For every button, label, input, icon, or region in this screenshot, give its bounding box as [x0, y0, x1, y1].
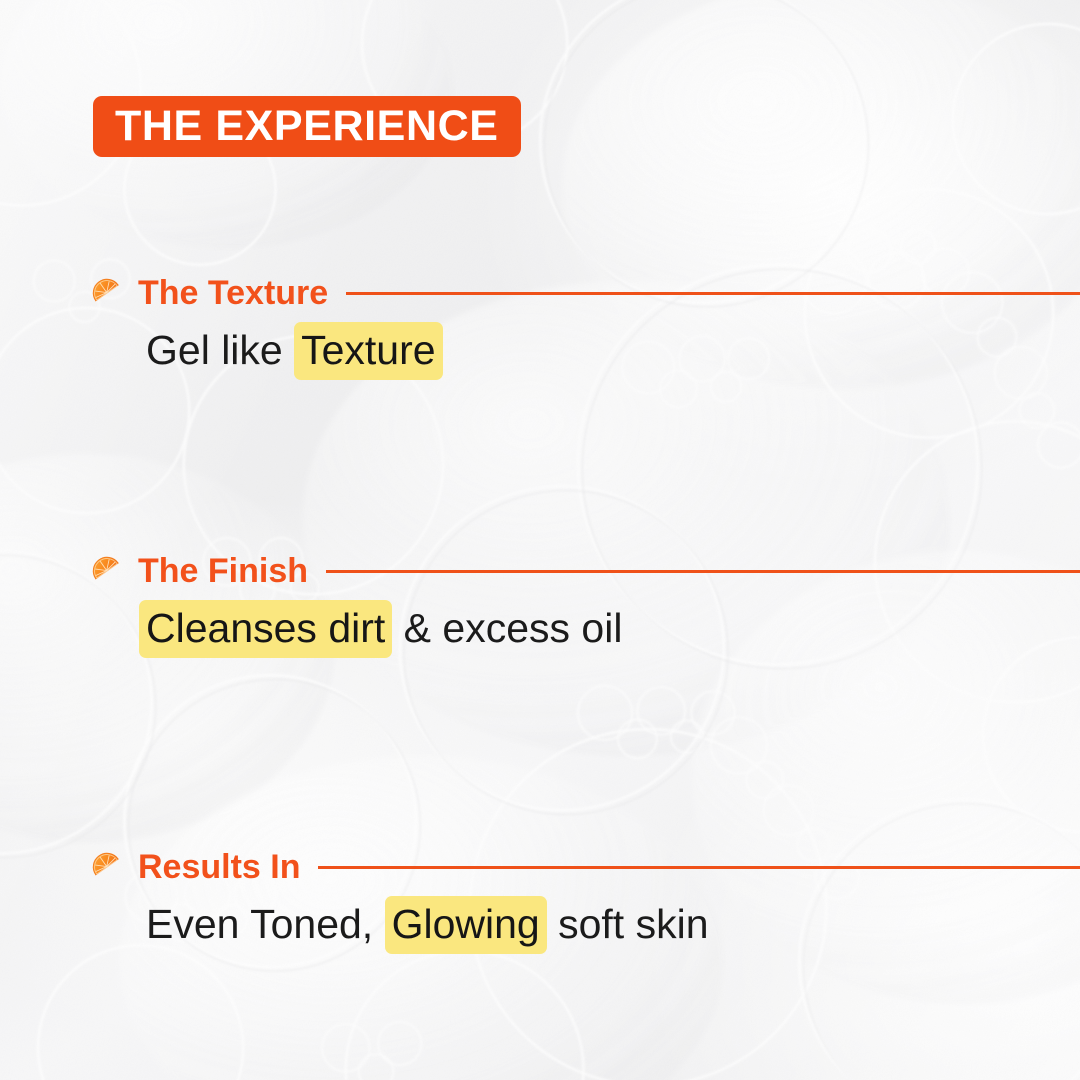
feature-body-highlight: Texture: [294, 322, 442, 380]
feature-block-finish: The Finish Cleanses dirt & excess oil: [0, 550, 1080, 652]
feature-block-texture: The Texture Gel like Texture: [0, 272, 1080, 374]
feature-body-part: & excess oil: [392, 605, 622, 651]
feature-body-text: Cleanses dirt & excess oil: [0, 604, 1080, 652]
feature-divider-rule: [326, 570, 1080, 573]
feature-body-text: Even Toned, Glowing soft skin: [0, 900, 1080, 948]
orange-slice-icon: [90, 554, 124, 588]
orange-slice-icon: [90, 276, 124, 310]
feature-title: Results In: [138, 850, 300, 884]
feature-divider-rule: [346, 292, 1080, 295]
feature-body-part: Even Toned,: [146, 901, 385, 947]
section-header-badge: THE EXPERIENCE: [93, 96, 521, 157]
feature-title: The Finish: [138, 554, 308, 588]
feature-body-highlight: Glowing: [385, 896, 547, 954]
feature-title: The Texture: [138, 276, 328, 310]
feature-body-part: Gel like: [146, 327, 294, 373]
feature-block-results: Results In Even Toned, Glowing soft skin: [0, 846, 1080, 948]
feature-heading-row: The Finish: [0, 550, 1080, 592]
feature-body-part: soft skin: [547, 901, 709, 947]
feature-heading-row: The Texture: [0, 272, 1080, 314]
orange-slice-icon: [90, 850, 124, 884]
page-title: THE EXPERIENCE: [115, 105, 499, 148]
feature-body-highlight: Cleanses dirt: [139, 600, 392, 658]
experience-poster: THE EXPERIENCE: [0, 0, 1080, 1080]
feature-divider-rule: [318, 866, 1080, 869]
feature-heading-row: Results In: [0, 846, 1080, 888]
feature-body-text: Gel like Texture: [0, 326, 1080, 374]
